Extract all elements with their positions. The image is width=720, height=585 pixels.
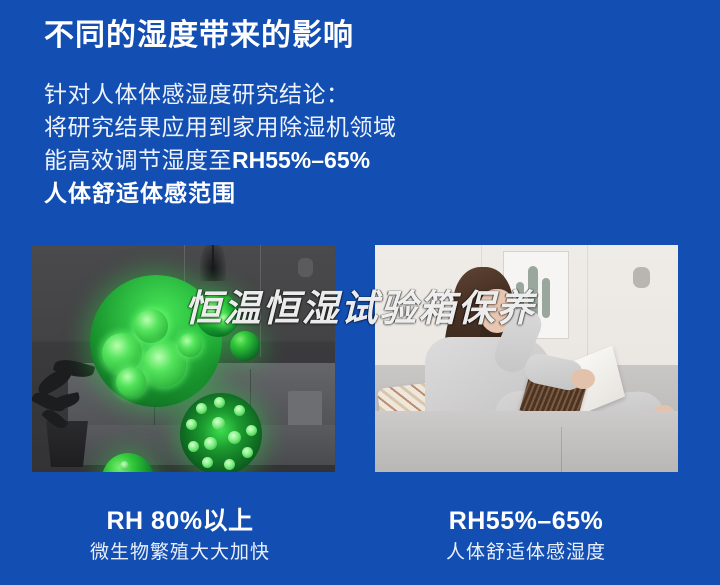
virus-spike-icon <box>212 417 225 430</box>
virus-spike-icon <box>214 397 225 408</box>
virus-spike-icon <box>242 447 253 458</box>
sofa-seat <box>375 411 678 472</box>
microbe-cell-icon <box>116 367 146 397</box>
caption-comfort-humidity: RH55%–65% 人体舒适体感湿度 <box>366 505 686 566</box>
caption-title: RH55%–65% <box>366 505 686 537</box>
virus-spike-icon <box>234 405 245 416</box>
intro-line-1: 针对人体体感湿度研究结论： <box>44 78 514 111</box>
photo-panel-comfort-humidity <box>375 245 678 472</box>
caption-high-humidity: RH 80%以上 微生物繁殖大大加快 <box>20 505 340 566</box>
virus-spike-icon <box>186 419 197 430</box>
wall-speaker-icon <box>298 258 313 277</box>
intro-paragraph: 针对人体体感湿度研究结论： 将研究结果应用到家用除湿机领域 能高效调节湿度至RH… <box>44 78 514 210</box>
virus-spike-icon <box>188 441 199 452</box>
microbe-cell-icon <box>218 313 232 327</box>
caption-subtitle: 人体舒适体感湿度 <box>366 540 686 566</box>
virus-spike-icon <box>120 461 129 470</box>
bright-room-background <box>375 245 678 472</box>
humidity-infographic-poster: 不同的湿度带来的影响 针对人体体感湿度研究结论： 将研究结果应用到家用除湿机领域… <box>0 0 720 585</box>
intro-line-2: 将研究结果应用到家用除湿机领域 <box>44 111 514 144</box>
microbe-small-icon <box>230 331 260 361</box>
intro-line-3-humidity-range: RH55%–65% <box>232 147 370 173</box>
plant-pot <box>46 421 88 467</box>
caption-title: RH 80%以上 <box>20 505 340 537</box>
microbe-cell-icon <box>178 333 202 357</box>
person-hand <box>571 369 595 389</box>
microbe-cluster-large-icon <box>90 275 222 407</box>
intro-line-3: 能高效调节湿度至RH55%–65% <box>44 144 514 177</box>
virus-spike-icon <box>224 459 235 470</box>
sofa-seam <box>561 427 562 472</box>
virus-spike-icon <box>196 403 207 414</box>
dark-room-background <box>32 245 335 472</box>
page-title: 不同的湿度带来的影响 <box>44 17 354 55</box>
virus-spike-icon <box>204 437 217 450</box>
caption-subtitle: 微生物繁殖大大加快 <box>20 540 340 566</box>
photo-panel-high-humidity <box>32 245 335 472</box>
virus-spike-icon <box>246 425 257 436</box>
virus-spike-icon <box>202 457 213 468</box>
wall-seam-icon <box>587 245 588 363</box>
wall-speaker-icon <box>633 267 650 288</box>
microbe-small-icon <box>196 293 240 337</box>
microbe-cell-icon <box>134 309 168 343</box>
intro-line-3-prefix: 能高效调节湿度至 <box>44 147 232 173</box>
wall-seam-icon <box>260 245 261 357</box>
cactus-icon <box>542 278 550 318</box>
hanging-plant-icon <box>200 245 226 281</box>
virus-spike-icon <box>228 431 241 444</box>
intro-line-4: 人体舒适体感范围 <box>44 177 514 210</box>
microbe-virus-large-icon <box>180 393 262 472</box>
